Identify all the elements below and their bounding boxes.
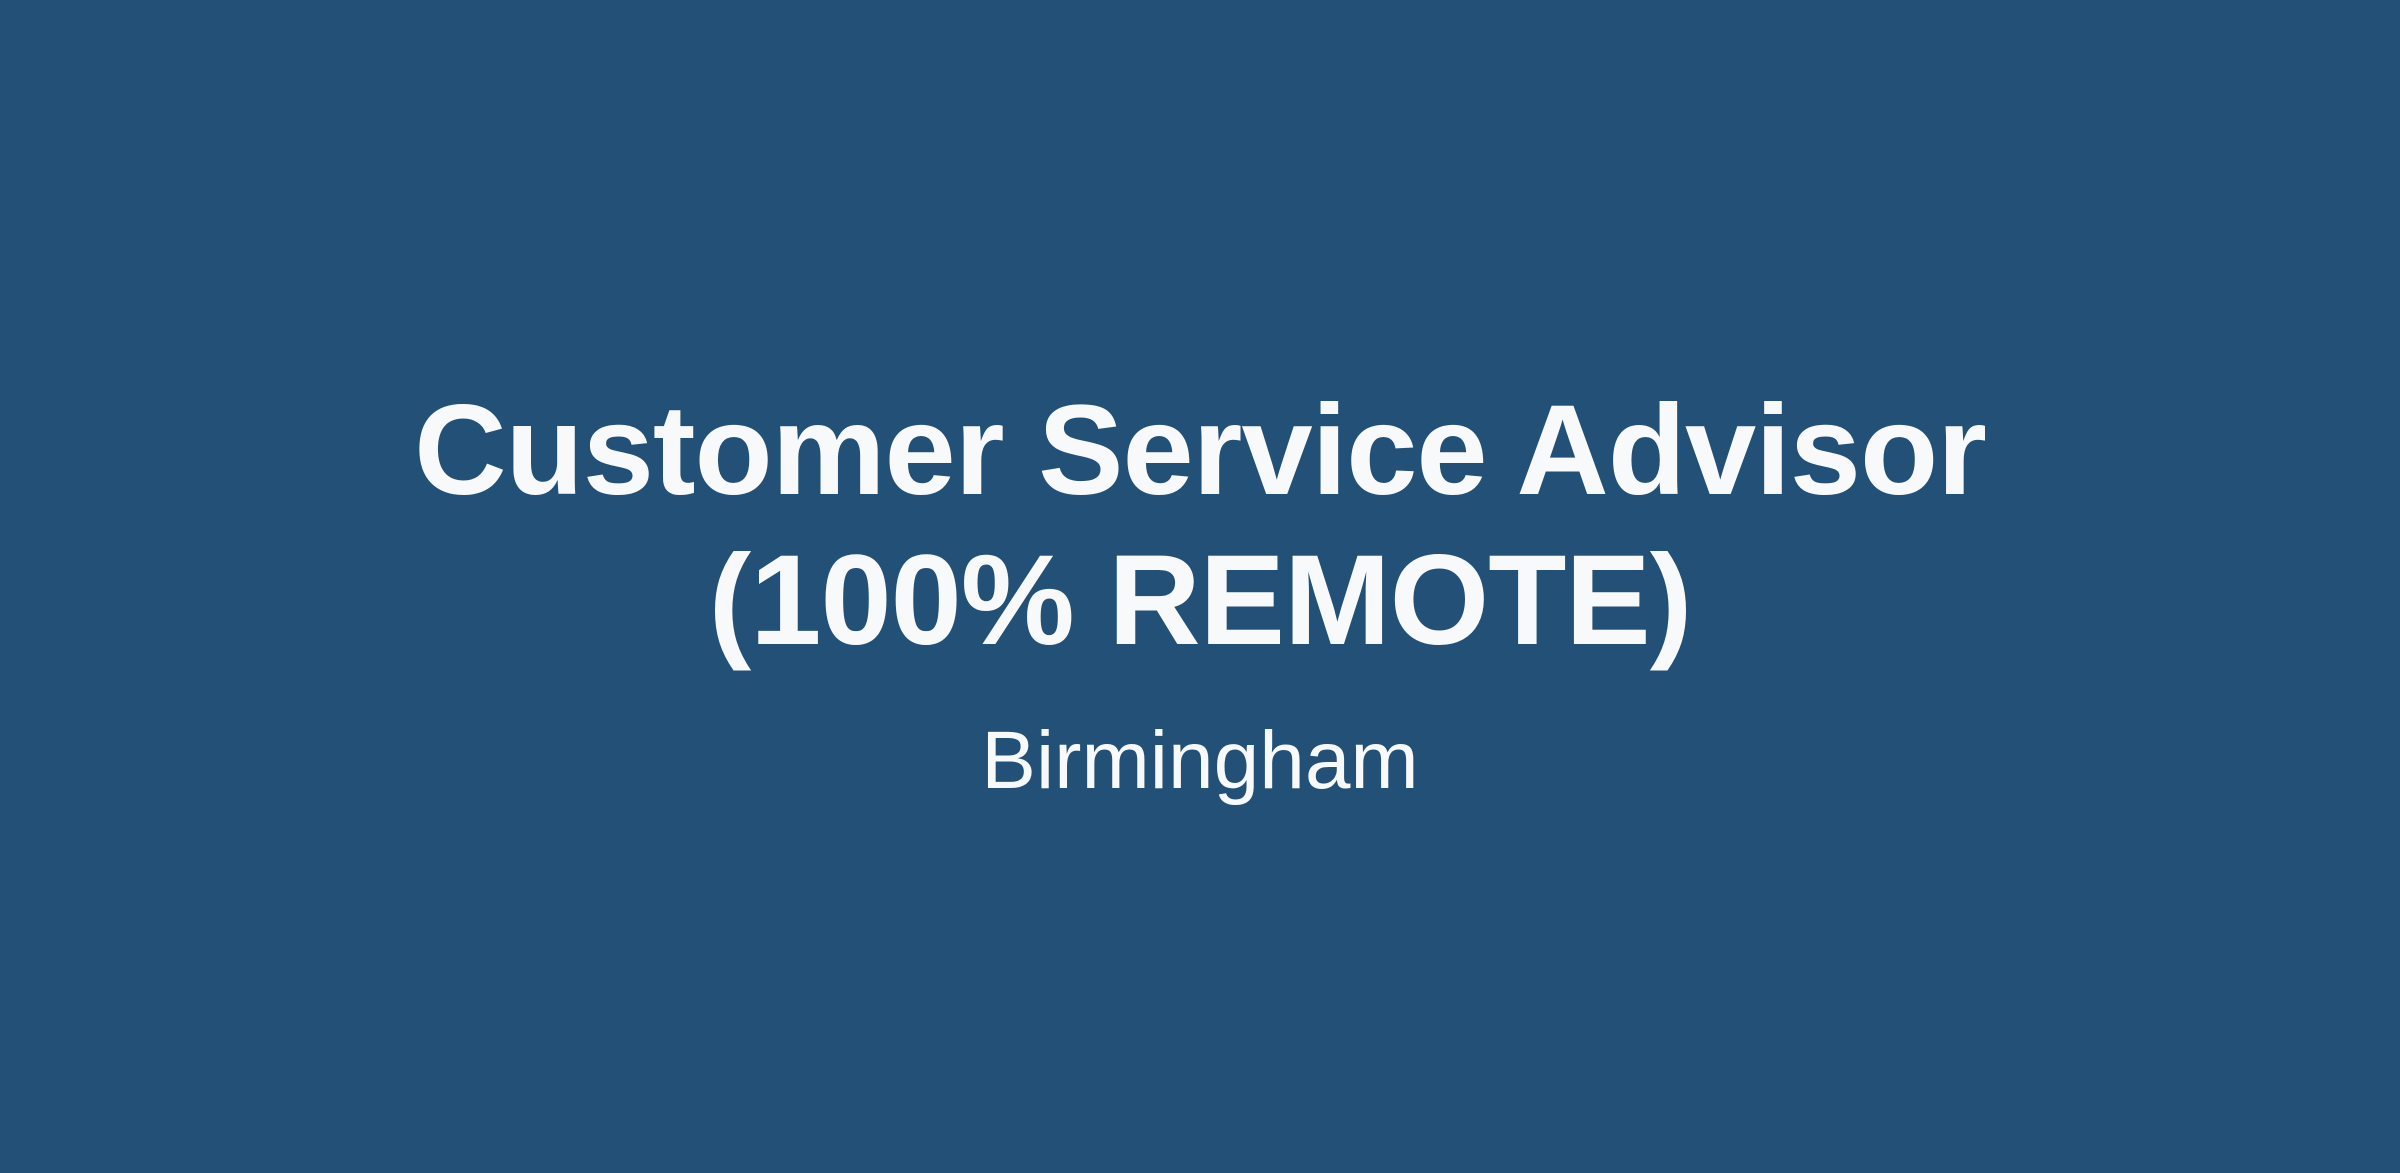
- job-title: Customer Service Advisor (100% REMOTE): [120, 376, 2280, 676]
- card-content: Customer Service Advisor (100% REMOTE) B…: [0, 376, 2400, 805]
- job-location: Birmingham: [120, 717, 2280, 805]
- job-posting-card: Customer Service Advisor (100% REMOTE) B…: [0, 0, 2400, 1173]
